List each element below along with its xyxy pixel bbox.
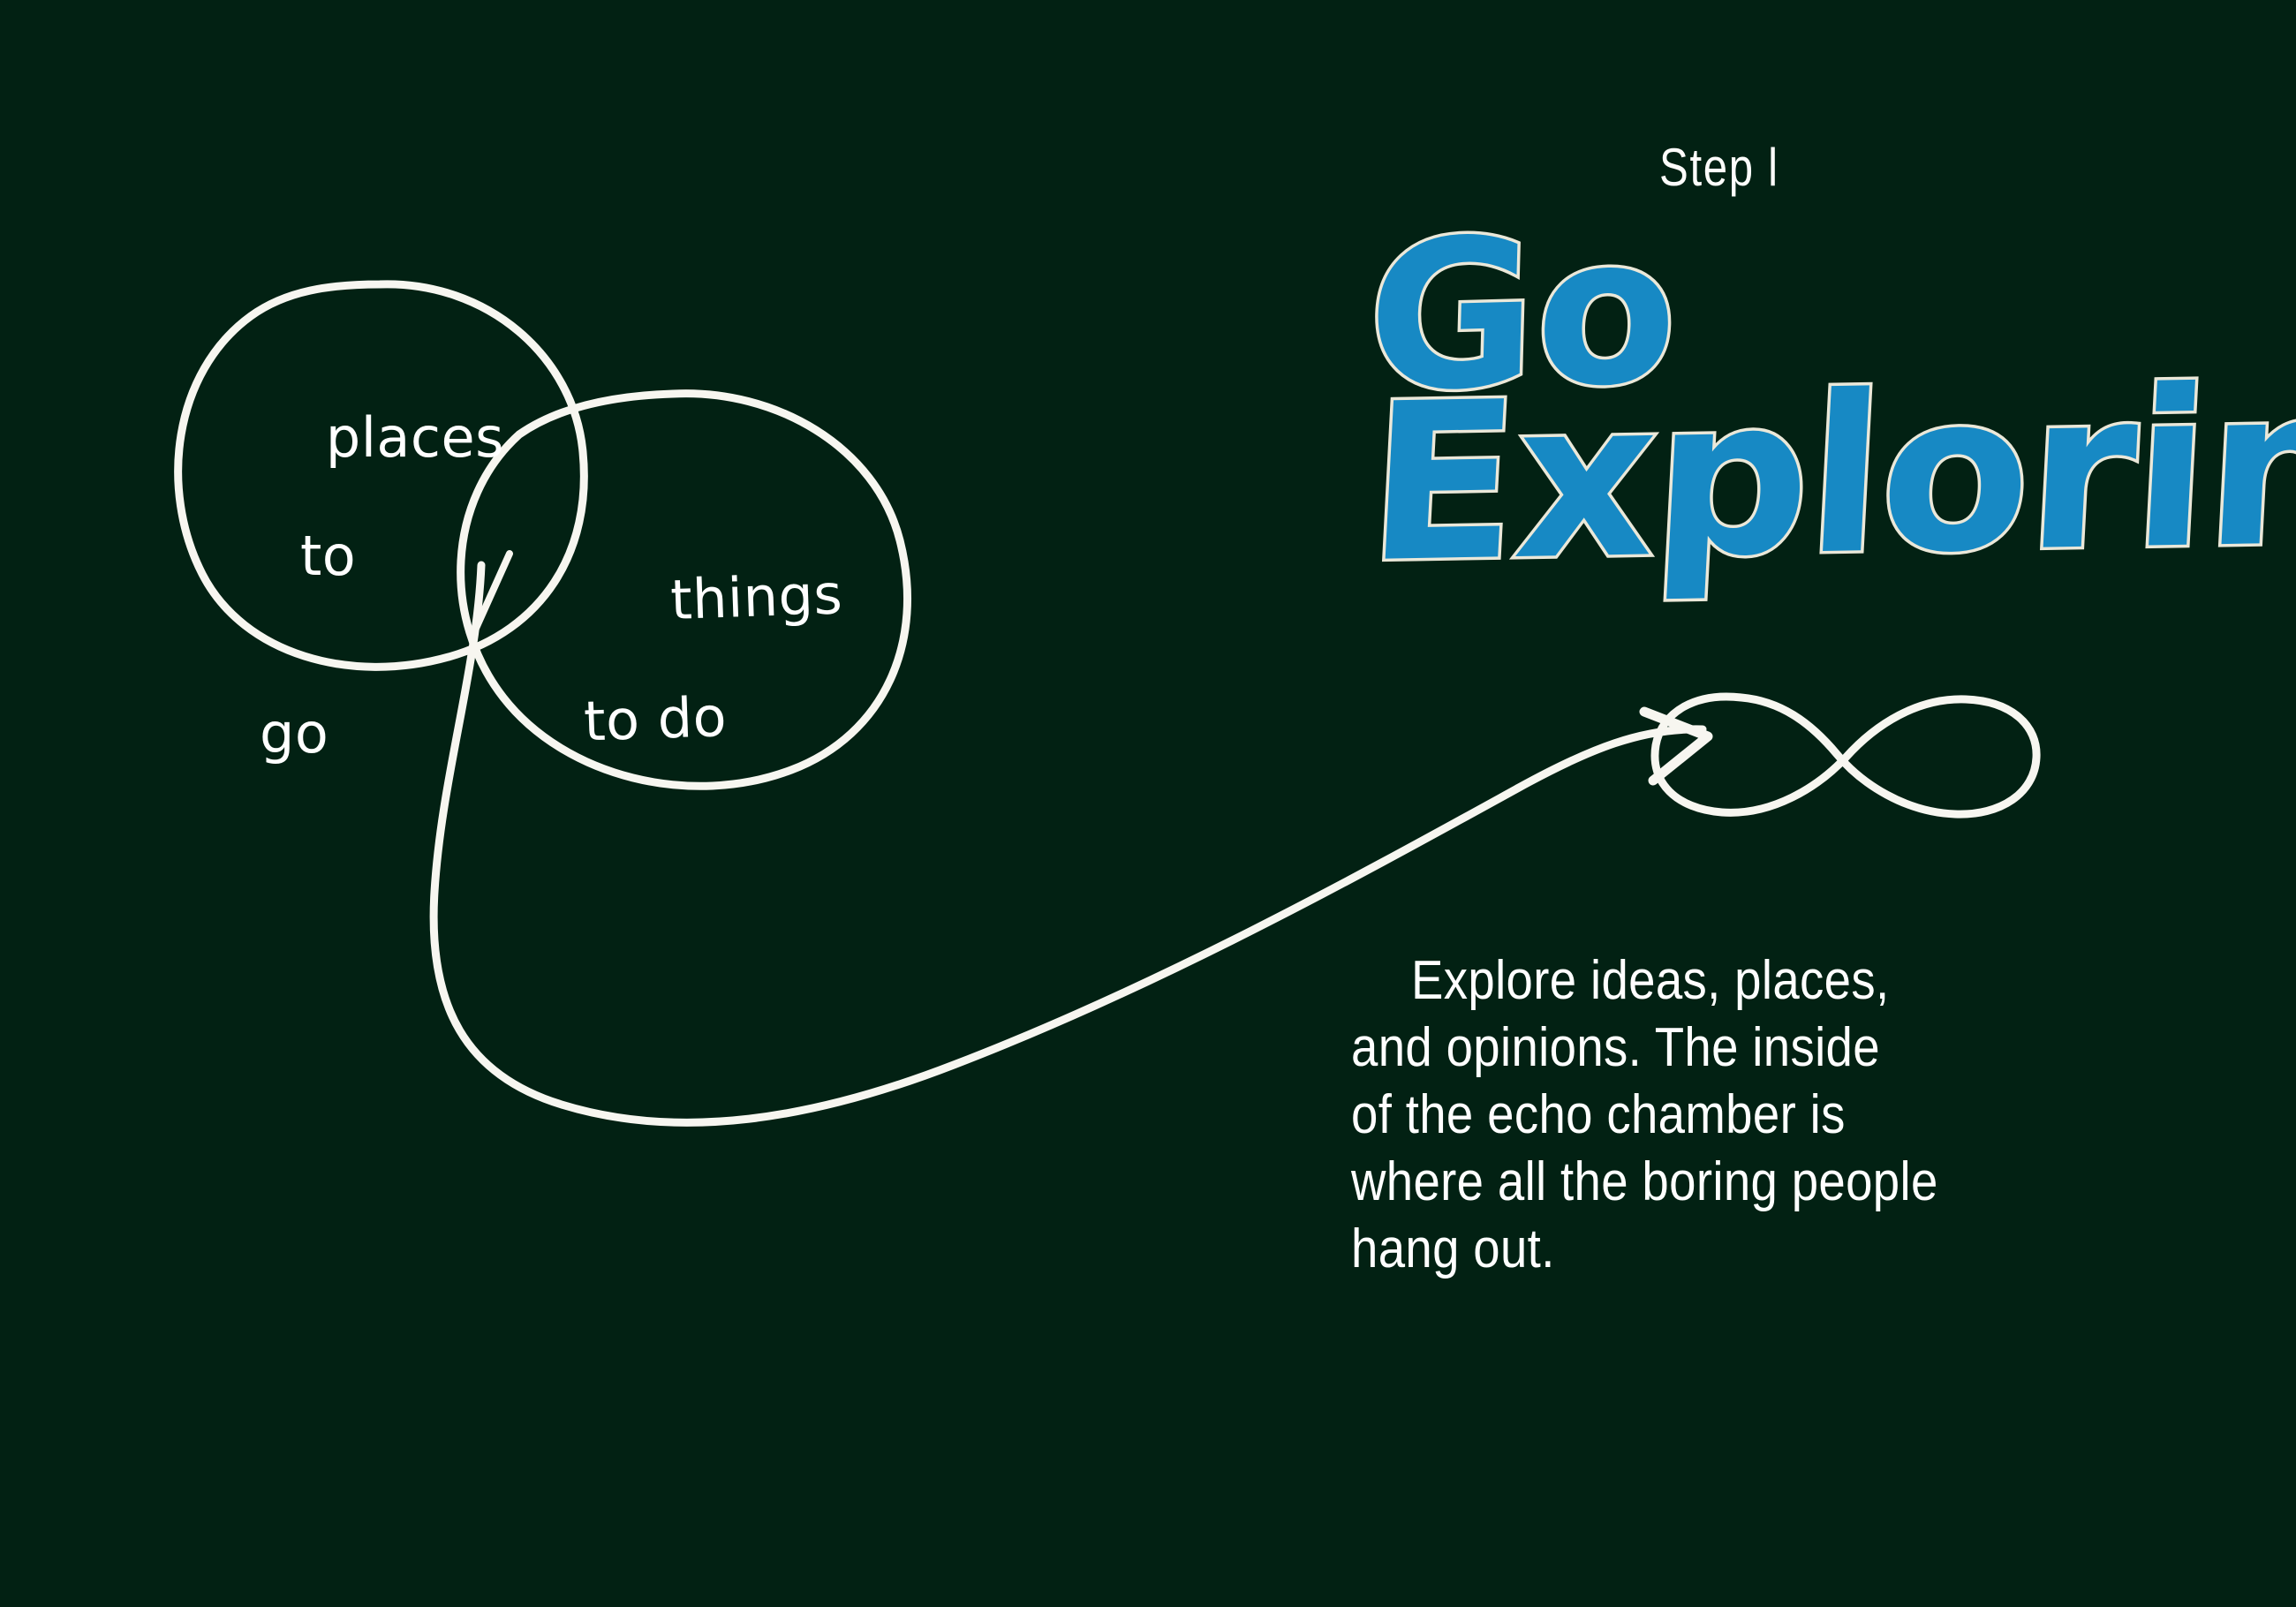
body-line-3: of the echo chamber is [1351, 1082, 2089, 1149]
venn-right-line-2: to do [583, 683, 848, 751]
venn-left-line-1: places [326, 405, 504, 470]
slide-canvas: places to go things to do Step l Go Expl… [0, 0, 2296, 1607]
body-line-2: and opinions. The inside [1351, 1015, 2089, 1082]
venn-right-line-1: things [669, 562, 843, 632]
venn-label-things-to-do: things to do [596, 506, 851, 869]
body-line-1: Explore ideas, places, [1411, 947, 2096, 1015]
body-line-5: hang out. [1351, 1216, 2089, 1283]
body-line-4: where all the boring people [1351, 1149, 2089, 1216]
page-title: Go Exploring. [1360, 212, 2252, 671]
venn-label-places-to-go: places to go [254, 350, 504, 882]
body-paragraph: Explore ideas, places, and opinions. The… [1351, 947, 2190, 1283]
venn-left-line-3: go [260, 705, 504, 764]
arrow-head-icon [1644, 712, 1708, 781]
venn-left-line-2: to [300, 527, 504, 586]
step-eyebrow-label: Step l [1659, 137, 1779, 198]
headline-word-exploring: Exploring. [1363, 355, 2296, 593]
infinity-icon [1655, 697, 2036, 814]
